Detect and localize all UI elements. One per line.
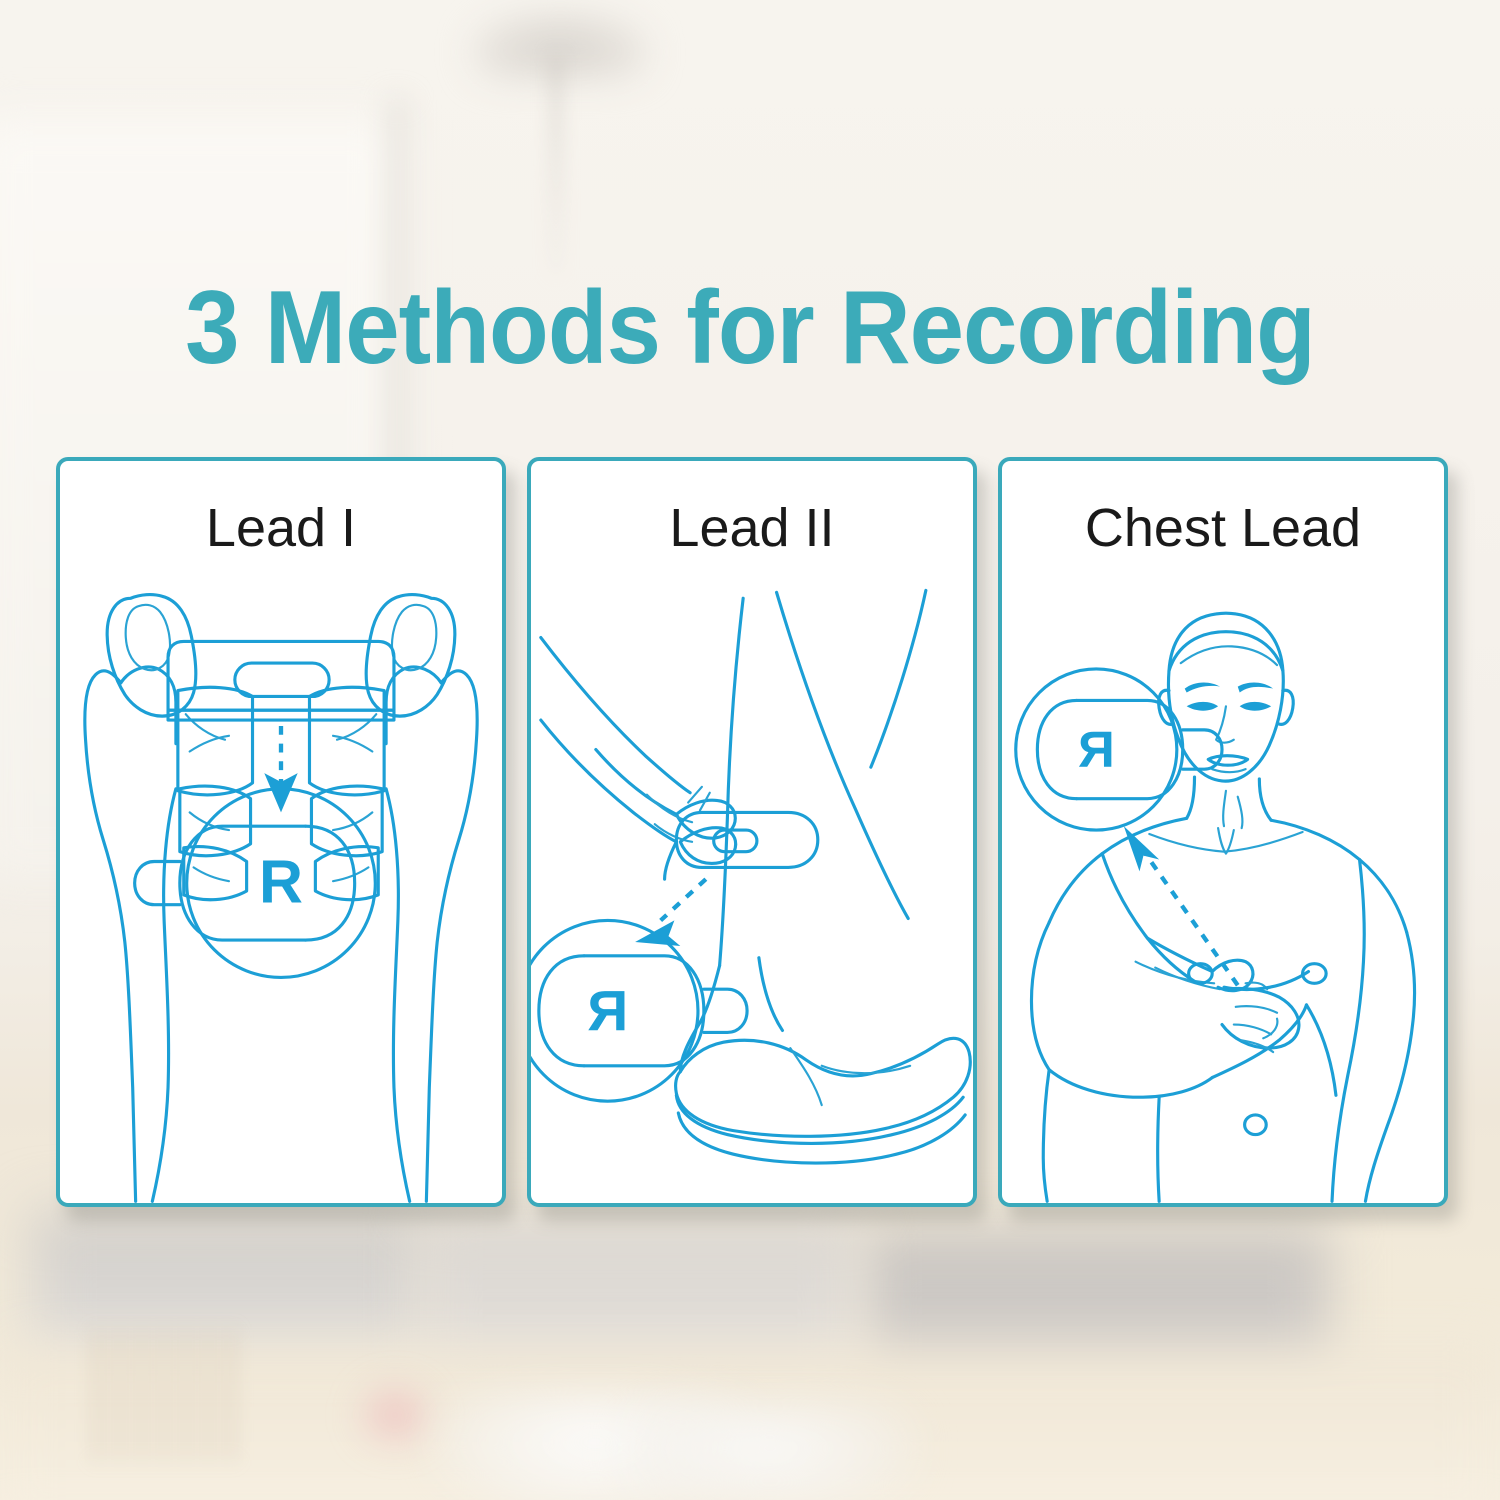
svg-text:R: R <box>587 979 628 1043</box>
background-reed-sticks <box>95 1330 245 1460</box>
page-title: 3 Methods for Recording <box>45 276 1455 380</box>
background-ceiling-lamp <box>470 10 650 80</box>
two-hands-device-icon: R <box>60 571 502 1207</box>
panel-lead-2[interactable]: Lead II <box>527 457 977 1207</box>
panel-title-lead-2: Lead II <box>531 499 973 557</box>
background-lamp-cord <box>552 55 560 275</box>
ankle-device-icon: R <box>531 571 973 1207</box>
background-bottles-secondary <box>620 1400 920 1500</box>
methods-panel-row: Lead I <box>56 457 1448 1207</box>
svg-text:R: R <box>1078 721 1115 778</box>
panel-chest-lead[interactable]: Chest Lead <box>998 457 1448 1207</box>
chest-device-icon: R <box>1002 571 1444 1207</box>
background-pink-flower <box>355 1380 435 1450</box>
panel-title-chest-lead: Chest Lead <box>1002 499 1444 557</box>
panel-lead-1[interactable]: Lead I <box>56 457 506 1207</box>
svg-text:R: R <box>259 848 303 916</box>
panel-title-lead-1: Lead I <box>60 499 502 557</box>
